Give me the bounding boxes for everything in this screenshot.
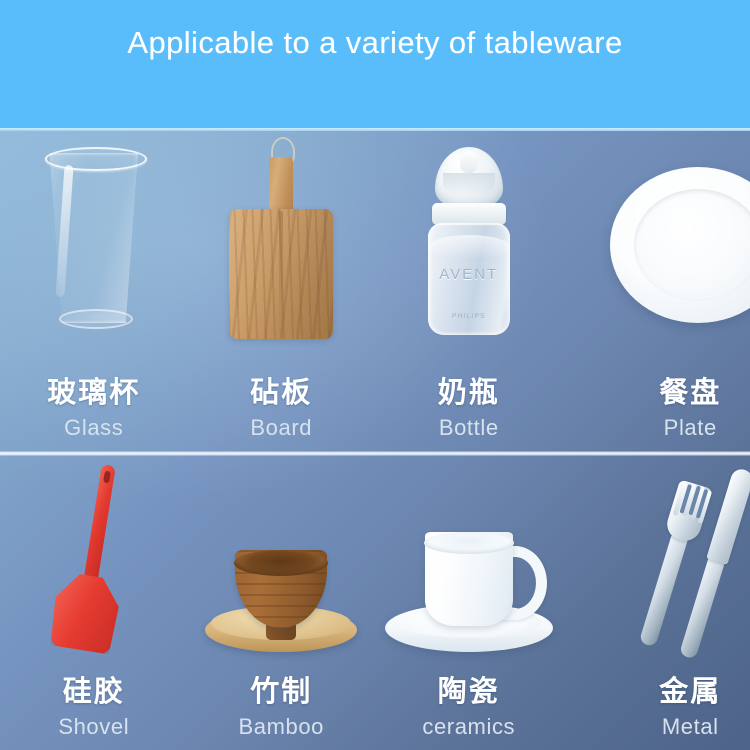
dinner-plate-icon: [605, 131, 750, 346]
tableware-label-group: 金属 Metal: [597, 674, 750, 742]
header-banner: Applicable to a variety of tableware: [0, 0, 750, 131]
baby-bottle-icon: AVENT PHILIPS: [375, 131, 563, 346]
label-en: Board: [188, 413, 376, 443]
bottle-brand-text: PHILIPS: [443, 313, 495, 320]
tableware-cell-bottle[interactable]: AVENT PHILIPS 奶瓶 Bottle: [375, 131, 563, 451]
tableware-cell-board[interactable]: 砧板 Board: [188, 131, 376, 451]
label-cn: 硅胶: [0, 674, 188, 710]
tableware-label-group: 竹制 Bamboo: [188, 674, 376, 742]
label-en: Bamboo: [188, 712, 376, 742]
tableware-label-group: 奶瓶 Bottle: [375, 375, 563, 443]
tableware-label-group: 餐盘 Plate: [597, 375, 750, 443]
drinking-glass-icon: [0, 131, 188, 346]
label-cn: 奶瓶: [375, 375, 563, 411]
tableware-cell-ceramics[interactable]: 陶瓷 ceramics: [375, 456, 563, 750]
label-cn: 陶瓷: [375, 674, 563, 710]
label-en: Glass: [0, 413, 188, 443]
label-cn: 砧板: [188, 375, 376, 411]
label-en: ceramics: [375, 712, 563, 742]
silicone-spatula-icon: [0, 456, 188, 656]
tableware-cell-bamboo[interactable]: 竹制 Bamboo: [188, 456, 376, 750]
tableware-cell-plate[interactable]: 餐盘 Plate: [563, 131, 750, 451]
tableware-cell-shovel[interactable]: 硅胶 Shovel: [0, 456, 188, 750]
tableware-row-2: 硅胶 Shovel 竹制 Bamboo: [0, 456, 750, 750]
label-cn: 餐盘: [597, 375, 750, 411]
tableware-label-group: 陶瓷 ceramics: [375, 674, 563, 742]
banner-title: Applicable to a variety of tableware: [127, 25, 622, 61]
bamboo-bowl-icon: [188, 456, 376, 656]
label-en: Plate: [597, 413, 750, 443]
label-cn: 竹制: [188, 674, 376, 710]
tableware-compatibility-infographic: Applicable to a variety of tableware 玻璃杯…: [0, 0, 750, 750]
tableware-label-group: 硅胶 Shovel: [0, 674, 188, 742]
label-cn: 金属: [597, 674, 750, 710]
label-en: Metal: [597, 712, 750, 742]
label-en: Shovel: [0, 712, 188, 742]
content-area: 玻璃杯 Glass 砧板 Board: [0, 131, 750, 750]
label-en: Bottle: [375, 413, 563, 443]
tableware-cell-glass[interactable]: 玻璃杯 Glass: [0, 131, 188, 451]
ceramic-cup-saucer-icon: [375, 456, 563, 656]
tableware-cell-metal[interactable]: 金属 Metal: [563, 456, 750, 750]
tableware-label-group: 玻璃杯 Glass: [0, 375, 188, 443]
cutting-board-icon: [188, 131, 376, 346]
tableware-label-group: 砧板 Board: [188, 375, 376, 443]
fork-knife-icon: [605, 456, 750, 656]
bottle-emboss-text: AVENT: [443, 259, 495, 289]
tableware-row-1: 玻璃杯 Glass 砧板 Board: [0, 131, 750, 451]
label-cn: 玻璃杯: [0, 375, 188, 411]
